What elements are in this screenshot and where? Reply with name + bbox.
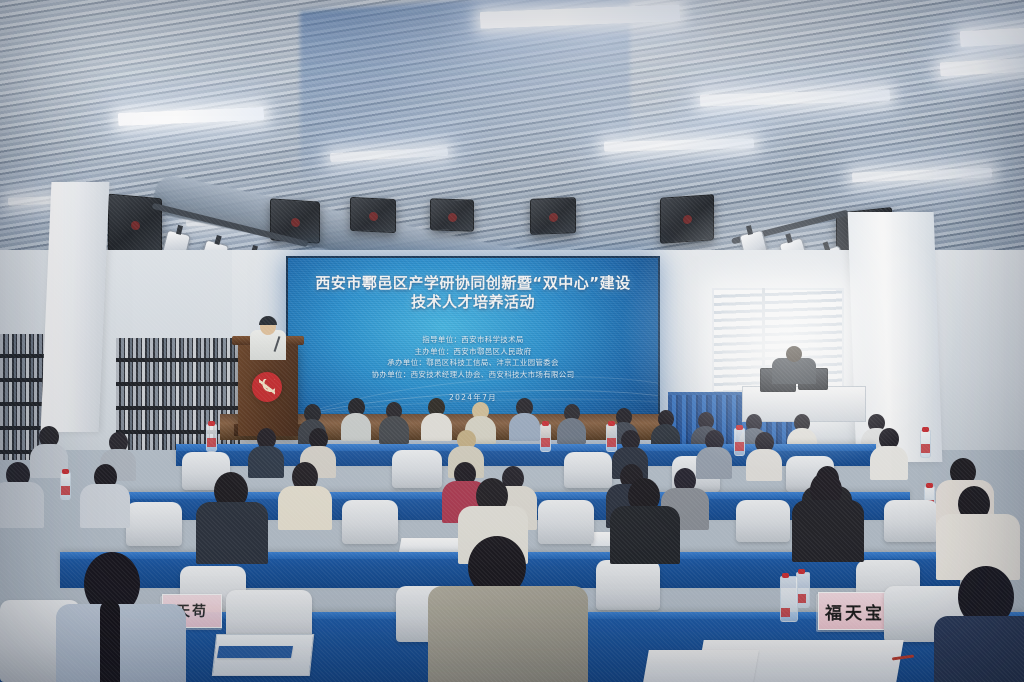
organizer-line: 协办单位：西安技术经理人协会、西安科技大市场有限公司 — [288, 369, 658, 381]
attendee-body — [792, 500, 864, 562]
water-bottle — [60, 472, 71, 500]
document-paper — [217, 646, 293, 658]
attendee-body — [696, 447, 732, 479]
attendee-body — [80, 484, 130, 528]
attendee-body — [610, 506, 680, 564]
chair — [392, 450, 442, 488]
name-card: 福天宝 — [818, 592, 892, 630]
water-bottle — [206, 424, 217, 452]
attendee-body — [870, 446, 908, 480]
attendee-body — [56, 604, 186, 682]
attendee-body — [557, 418, 586, 444]
structural-column — [848, 212, 943, 462]
attendee-body — [509, 413, 540, 441]
water-bottle — [540, 424, 551, 452]
water-bottle — [920, 430, 931, 458]
conference-photo: 西安市鄠邑区产学研协同创新暨“双中心”建设 技术人才培养活动 指导单位：西安市科… — [0, 0, 1024, 682]
organizer-line: 承办单位：鄠邑区科技工信局、沣京工业园管委会 — [288, 357, 658, 369]
chair — [564, 452, 612, 488]
attendee-body — [278, 486, 332, 530]
screen-title: 西安市鄠邑区产学研协同创新暨“双中心”建设 技术人才培养活动 — [288, 274, 658, 312]
structural-column — [41, 182, 110, 432]
led-screen-surface: 西安市鄠邑区产学研协同创新暨“双中心”建设 技术人才培养活动 指导单位：西安市科… — [288, 258, 658, 430]
water-bottle — [780, 576, 798, 622]
hanging-speaker — [430, 198, 474, 232]
organizer-line: 主办单位：西安市鄠邑区人民政府 — [288, 346, 658, 358]
water-bottle — [734, 428, 745, 456]
chair — [596, 560, 660, 610]
screen-date: 2024年7月 — [288, 392, 658, 403]
screen-title-line-1: 西安市鄠邑区产学研协同创新暨“双中心”建设 — [298, 274, 648, 293]
chair — [342, 500, 398, 544]
water-bottle — [796, 572, 810, 608]
attendee-body — [196, 502, 268, 564]
chair — [538, 500, 594, 544]
av-technician-head — [786, 346, 802, 362]
attendee-body — [379, 416, 409, 444]
attendee-body — [746, 449, 782, 481]
attendee-body — [934, 616, 1024, 682]
screen-title-line-2: 技术人才培养活动 — [298, 293, 648, 312]
attendee-body — [0, 482, 44, 528]
attendee-body — [248, 446, 284, 478]
hanging-speaker — [660, 194, 714, 244]
organizer-line: 指导单位：西安市科学技术局 — [288, 334, 658, 346]
cpc-emblem-icon — [252, 372, 282, 402]
attendee-body — [421, 413, 452, 441]
hanging-speaker — [350, 197, 396, 233]
attendee-body — [341, 413, 371, 441]
chair — [736, 500, 790, 542]
attendee-hair-braid — [100, 600, 120, 682]
hanging-speaker — [530, 197, 576, 235]
attendee-body — [428, 586, 588, 682]
water-bottle — [606, 424, 617, 452]
document-paper — [643, 650, 759, 682]
screen-organizer-list: 指导单位：西安市科学技术局 主办单位：西安市鄠邑区人民政府 承办单位：鄠邑区科技… — [288, 334, 658, 380]
chair — [126, 502, 182, 546]
chair — [884, 500, 938, 542]
